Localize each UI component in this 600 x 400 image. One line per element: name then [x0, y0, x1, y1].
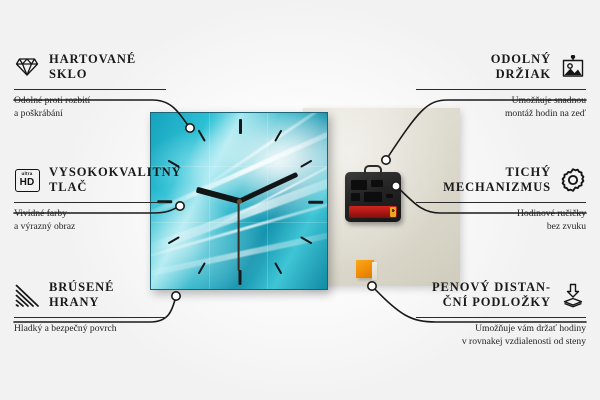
- press-pad-icon: [560, 282, 586, 308]
- hour-tick: [274, 130, 282, 142]
- feature-silent-mechanism: TICHÝ MECHANIZMUS Hodinové ručičky bez z…: [390, 163, 586, 234]
- hour-tick: [198, 262, 206, 274]
- hanger-loop: [364, 165, 382, 175]
- feature-high-quality-print: ultra HD VYSOKOKVALITNÝ TLAČ Vividné far…: [14, 163, 210, 234]
- feature-divider: [14, 202, 166, 203]
- gear-icon: [560, 167, 586, 193]
- feature-header: HARTOVANÉ SKLO: [14, 50, 210, 84]
- feature-divider: [416, 89, 586, 90]
- hour-tick: [300, 236, 312, 244]
- hour-tick: [308, 201, 323, 204]
- feature-divider: [14, 317, 166, 318]
- feature-divider: [416, 317, 586, 318]
- feature-header: BRÚSENÉ HRANY: [14, 278, 210, 312]
- foam-spacer-pad: [356, 260, 374, 278]
- feature-description: Hodinové ručičky bez zvuku: [390, 208, 586, 234]
- feature-divider: [416, 202, 586, 203]
- hd-badge-main-label: HD: [20, 178, 35, 188]
- feature-header: TICHÝ MECHANIZMUS: [390, 163, 586, 197]
- hour-tick: [239, 270, 242, 285]
- minute-hand: [238, 172, 298, 203]
- feature-foam-spacers: PENOVÝ DISTAN- ČNÍ PODLOŽKY Umožňuje vám…: [390, 278, 586, 349]
- feature-divider: [14, 89, 166, 90]
- movement-vent: [351, 180, 367, 190]
- clock-hub: [237, 199, 242, 204]
- feature-header: ultra HD VYSOKOKVALITNÝ TLAČ: [14, 163, 210, 197]
- ultra-hd-icon: ultra HD: [14, 167, 40, 193]
- feature-title: VYSOKOKVALITNÝ TLAČ: [49, 165, 182, 196]
- second-hand: [238, 201, 240, 271]
- feature-title: ODOLNÝ DRŽIAK: [491, 52, 551, 83]
- hour-tick: [168, 236, 180, 244]
- feature-title: TICHÝ MECHANIZMUS: [443, 165, 551, 196]
- feature-title: BRÚSENÉ HRANY: [49, 280, 114, 311]
- feature-header: PENOVÝ DISTAN- ČNÍ PODLOŽKY: [390, 278, 586, 312]
- beveled-edge-icon: [14, 282, 40, 308]
- picture-frame-hanger-icon: [560, 54, 586, 80]
- movement-vent: [351, 193, 360, 201]
- feature-description: Odolné proti rozbití a poškrábání: [14, 95, 210, 121]
- hour-tick: [198, 130, 206, 142]
- diamond-icon: [14, 54, 40, 80]
- feature-title: PENOVÝ DISTAN- ČNÍ PODLOŽKY: [432, 280, 551, 311]
- feature-title: HARTOVANÉ SKLO: [49, 52, 136, 83]
- movement-vent: [371, 180, 383, 187]
- feature-description: Vividné farby a výrazný obraz: [14, 208, 210, 234]
- feature-polished-edges: BRÚSENÉ HRANY Hladký a bezpečný povrch: [14, 278, 210, 336]
- movement-vent: [364, 192, 382, 202]
- hour-tick: [274, 262, 282, 274]
- feature-hardened-glass: HARTOVANÉ SKLO Odolné proti rozbití a po…: [14, 50, 210, 121]
- feature-durable-hanger: ODOLNÝ DRŽIAK Umožňuje snadnou montáž ho…: [390, 50, 586, 121]
- feature-description: Umožňuje snadnou montáž hodin na zeď: [390, 95, 586, 121]
- feature-description: Hladký a bezpečný povrch: [14, 323, 210, 336]
- hour-tick: [239, 119, 242, 134]
- hour-tick: [300, 160, 312, 168]
- product-infographic: HARTOVANÉ SKLO Odolné proti rozbití a po…: [0, 0, 600, 400]
- hd-badge: ultra HD: [15, 169, 40, 192]
- feature-header: ODOLNÝ DRŽIAK: [390, 50, 586, 84]
- feature-description: Umožňuje vám držať hodiny v rovnakej vzd…: [390, 323, 586, 349]
